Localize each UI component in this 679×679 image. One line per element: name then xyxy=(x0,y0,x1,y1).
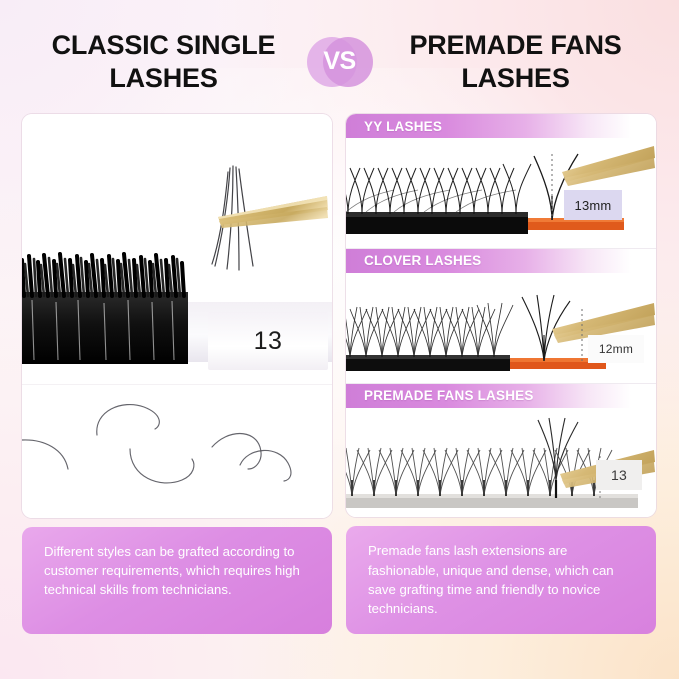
tweezer-yy xyxy=(562,146,655,186)
measurement-12mm: 12mm xyxy=(588,335,644,363)
panel-banner-yy: YY LASHES xyxy=(346,114,656,138)
premade-fans-art: 13 xyxy=(346,408,656,518)
clover-lash-tray-illustration xyxy=(346,273,656,383)
left-title: CLASSIC SINGLE LASHES xyxy=(28,29,300,95)
panel-clover-lashes: CLOVER LASHES xyxy=(346,249,656,384)
panel-yy-lashes: YY LASHES xyxy=(346,114,656,249)
comparison-header: CLASSIC SINGLE LASHES VS PREMADE FANS LA… xyxy=(0,22,679,102)
classic-lashes-card: 13 xyxy=(22,114,332,518)
vs-label: VS xyxy=(323,49,355,76)
measurement-13mm: 13mm xyxy=(564,190,622,220)
left-caption: Different styles can be grafted accordin… xyxy=(22,527,332,634)
length-label-13: 13 xyxy=(208,312,328,370)
clover-fan-group xyxy=(346,303,513,357)
clover-lashes-art: 12mm xyxy=(346,273,656,383)
panel-banner-premade: PREMADE FANS LASHES xyxy=(346,384,656,408)
lash-block xyxy=(22,254,188,364)
panel-premade-fans: PREMADE FANS LASHES xyxy=(346,384,656,518)
right-title: PREMADE FANS LASHES xyxy=(380,29,652,95)
comparison-columns: 13 Different styles can be grafted xyxy=(22,114,657,634)
left-column: 13 Different styles can be grafted xyxy=(22,114,332,634)
panel-banner-clover: CLOVER LASHES xyxy=(346,249,656,273)
right-column: YY LASHES xyxy=(346,114,656,634)
measurement-13: 13 xyxy=(596,460,642,490)
vs-badge: VS xyxy=(304,33,376,91)
premade-fans-card: YY LASHES xyxy=(346,114,656,517)
product-comparison-graphic: CLASSIC SINGLE LASHES VS PREMADE FANS LA… xyxy=(0,0,679,679)
classic-lashes-photo: 13 xyxy=(22,114,332,384)
tweezer-with-lashes xyxy=(212,166,328,270)
yy-lashes-art: 13mm xyxy=(346,138,656,248)
single-lash-curves-illustration xyxy=(22,385,332,518)
classic-lash-curl-strip xyxy=(22,384,332,518)
right-caption: Premade fans lash extensions are fashion… xyxy=(346,526,656,634)
